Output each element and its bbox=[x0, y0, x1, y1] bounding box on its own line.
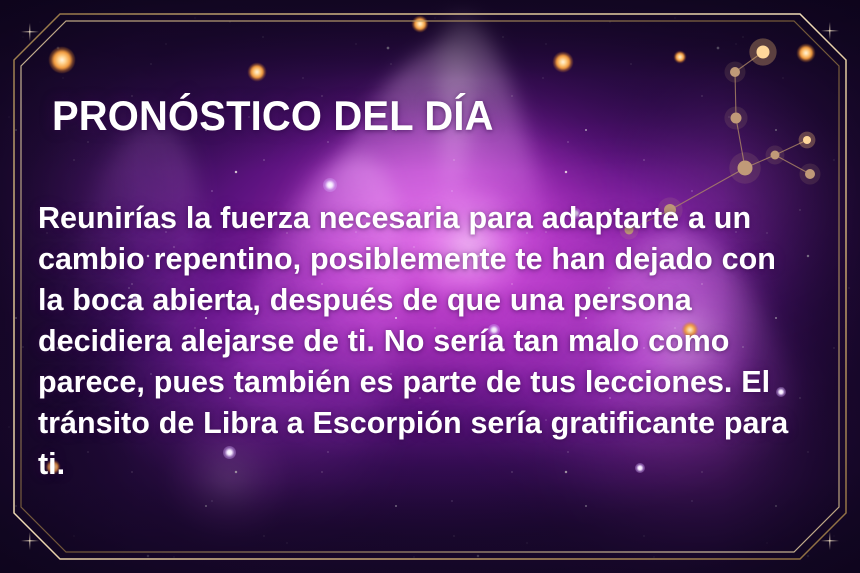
body-line: Reunirías la fuerza necesaria para adapt… bbox=[38, 201, 751, 235]
body-line: tránsito de Libra a Escorpión sería grat… bbox=[38, 406, 788, 440]
horoscope-card: PRONÓSTICO DEL DÍA Reunirías la fuerza n… bbox=[0, 0, 860, 573]
sparkle-star-icon bbox=[21, 23, 39, 41]
body-line: parece, pues también es parte de tus lec… bbox=[38, 365, 770, 399]
body-line: ti. bbox=[38, 447, 65, 481]
body-line: la boca abierta, después de que una pers… bbox=[38, 283, 692, 317]
sparkle-star-icon bbox=[21, 532, 39, 550]
page-title: PRONÓSTICO DEL DÍA bbox=[52, 92, 494, 140]
body-line: decidiera alejarse de ti. No sería tan m… bbox=[38, 324, 729, 358]
body-line: cambio repentino, posiblemente te han de… bbox=[38, 242, 776, 276]
card-content: PRONÓSTICO DEL DÍA Reunirías la fuerza n… bbox=[38, 0, 828, 573]
horoscope-body-text: Reunirías la fuerza necesaria para adapt… bbox=[38, 198, 822, 485]
